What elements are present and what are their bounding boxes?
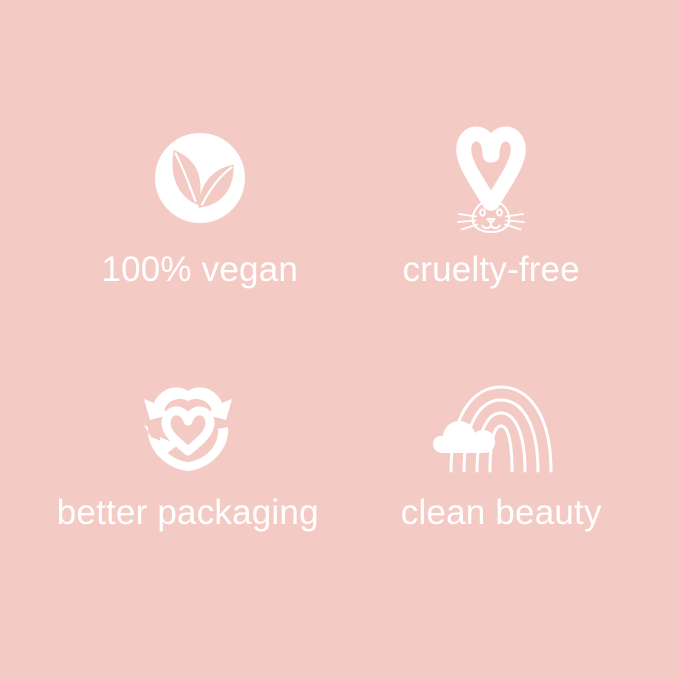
- leaf-circle-icon: [140, 118, 260, 238]
- badge-board: 100% vegan: [0, 0, 679, 679]
- badge-label-cruelty-free: cruelty-free: [403, 252, 580, 287]
- recycle-heart-icon: [136, 375, 240, 479]
- badge-grid: 100% vegan: [0, 118, 679, 530]
- bunny-heart-ears-icon: [426, 118, 556, 238]
- badge-clean-beauty[interactable]: clean beauty: [332, 375, 672, 530]
- badge-better-packaging[interactable]: better packaging: [18, 375, 358, 530]
- badge-label-better-packaging: better packaging: [57, 495, 319, 530]
- badge-label-vegan: 100% vegan: [101, 252, 298, 287]
- badge-cruelty-free[interactable]: cruelty-free: [322, 118, 662, 287]
- badge-label-clean-beauty: clean beauty: [401, 495, 602, 530]
- badge-vegan[interactable]: 100% vegan: [30, 118, 370, 287]
- rainbow-cloud-icon: [431, 375, 571, 479]
